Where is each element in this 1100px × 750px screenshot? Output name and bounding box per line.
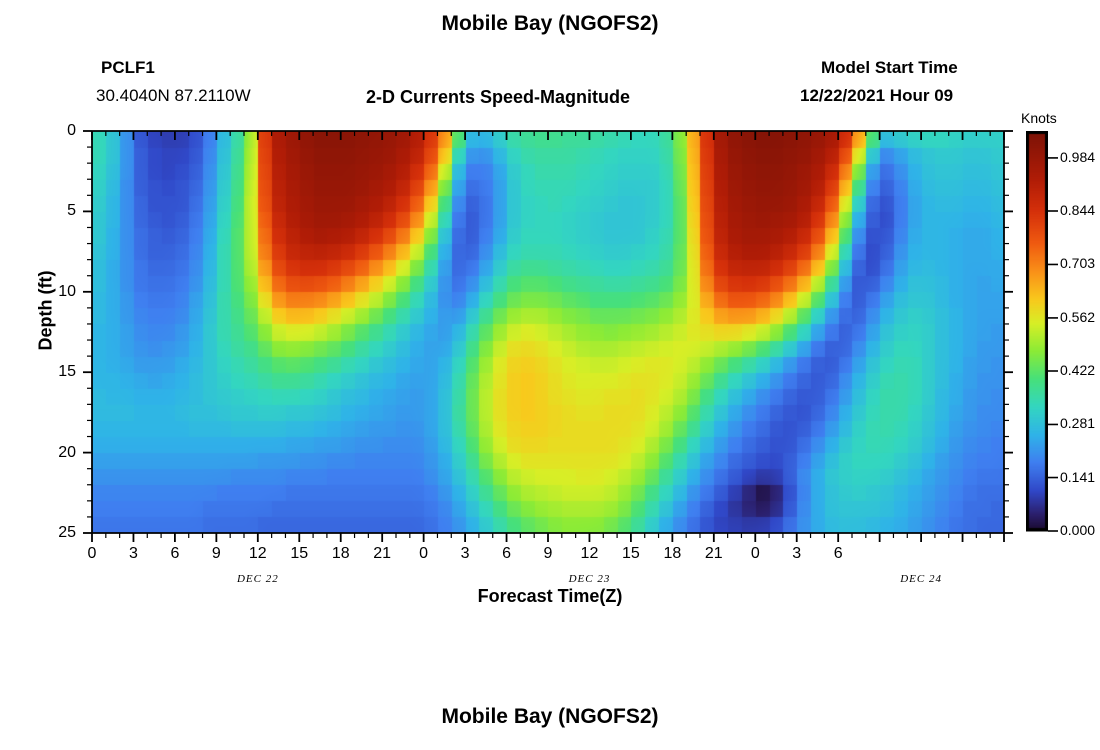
x-tick-label: 0 (77, 545, 107, 563)
x-tick-label: 6 (823, 545, 853, 563)
footer-title: Mobile Bay (NGOFS2) (0, 705, 1100, 729)
colorbar-title: Knots (1021, 110, 1057, 126)
x-tick-label: 21 (367, 545, 397, 563)
y-tick-label: 20 (42, 444, 76, 462)
x-tick-label: 9 (201, 545, 231, 563)
x-tick-label: 15 (616, 545, 646, 563)
colorbar-tick-label: 0.281 (1060, 415, 1100, 431)
x-axis-day-label: DEC 23 (554, 573, 624, 585)
x-tick-label: 21 (699, 545, 729, 563)
x-tick-label: 0 (409, 545, 439, 563)
chart-canvas: Mobile Bay (NGOFS2) PCLF1 30.4040N 87.21… (0, 0, 1100, 750)
colorbar-tick-label: 0.703 (1060, 255, 1100, 271)
colorbar-tick-label: 0.562 (1060, 309, 1100, 325)
x-tick-label: 0 (740, 545, 770, 563)
x-tick-label: 12 (574, 545, 604, 563)
x-tick-label: 3 (450, 545, 480, 563)
x-tick-label: 18 (657, 545, 687, 563)
colorbar-tick-label: 0.141 (1060, 469, 1100, 485)
y-axis-title: Depth (ft) (36, 251, 57, 371)
colorbar-tick-label: 0.844 (1060, 202, 1100, 218)
colorbar-gradient (1026, 131, 1048, 531)
x-tick-label: 12 (243, 545, 273, 563)
y-tick-label: 0 (42, 122, 76, 140)
y-tick-label: 5 (42, 202, 76, 220)
x-tick-label: 15 (284, 545, 314, 563)
x-tick-label: 18 (326, 545, 356, 563)
x-tick-label: 6 (492, 545, 522, 563)
x-axis-day-label: DEC 22 (223, 573, 293, 585)
colorbar-tick-label: 0.422 (1060, 362, 1100, 378)
x-tick-label: 6 (160, 545, 190, 563)
y-tick-label: 25 (42, 524, 76, 542)
x-tick-label: 3 (118, 545, 148, 563)
x-axis-day-label: DEC 24 (886, 573, 956, 585)
colorbar-tick-label: 0.000 (1060, 522, 1100, 538)
plot-axes (0, 0, 1100, 750)
colorbar-tick-label: 0.984 (1060, 149, 1100, 165)
x-tick-label: 9 (533, 545, 563, 563)
x-axis-title: Forecast Time(Z) (0, 586, 1100, 607)
x-tick-label: 3 (782, 545, 812, 563)
